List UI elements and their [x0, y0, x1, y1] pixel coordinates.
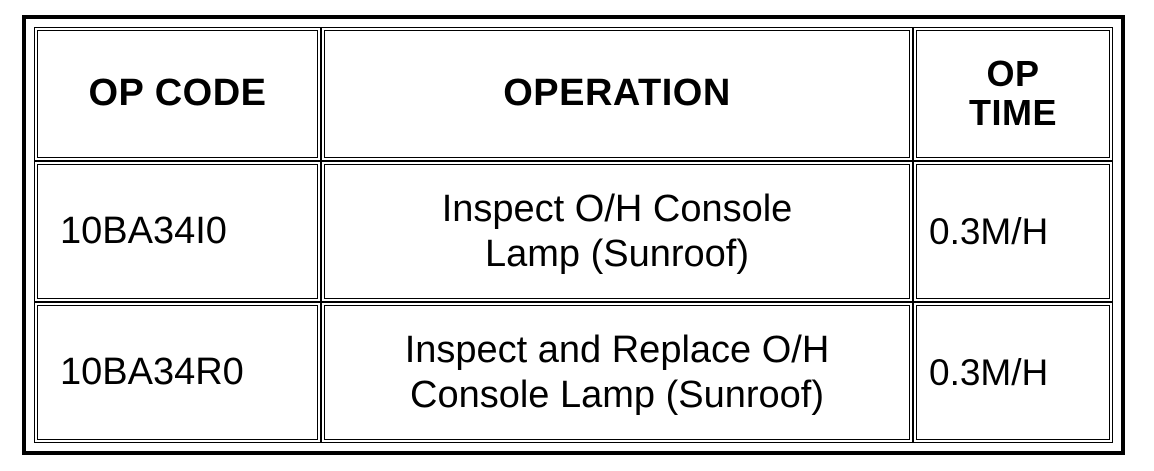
table-outer-frame: OP CODE OPERATION OP TIME 10BA34I0 Inspe… [22, 15, 1125, 455]
column-header-op-code: OP CODE [34, 27, 321, 161]
page-root: OP CODE OPERATION OP TIME 10BA34I0 Inspe… [0, 0, 1154, 471]
table-body: 10BA34I0 Inspect O/H Console Lamp (Sunro… [34, 161, 1113, 443]
table-row: 10BA34R0 Inspect and Replace O/H Console… [34, 302, 1113, 443]
column-header-op-time-line1: OP [927, 55, 1099, 94]
cell-operation-line1: Inspect O/H Console [333, 187, 901, 231]
table-header: OP CODE OPERATION OP TIME [34, 27, 1113, 161]
cell-operation: Inspect and Replace O/H Console Lamp (Su… [321, 302, 913, 443]
column-header-op-time: OP TIME [913, 27, 1113, 161]
cell-op-code: 10BA34R0 [34, 302, 321, 443]
cell-op-time: 0.3M/H [913, 302, 1113, 443]
cell-operation-line1: Inspect and Replace O/H [333, 328, 901, 372]
cell-operation-line2: Lamp (Sunroof) [333, 232, 901, 276]
table-row: 10BA34I0 Inspect O/H Console Lamp (Sunro… [34, 161, 1113, 302]
column-header-operation: OPERATION [321, 27, 913, 161]
column-header-op-time-line2: TIME [927, 94, 1099, 133]
cell-operation: Inspect O/H Console Lamp (Sunroof) [321, 161, 913, 302]
cell-op-time: 0.3M/H [913, 161, 1113, 302]
cell-operation-line2: Console Lamp (Sunroof) [333, 373, 901, 417]
header-row: OP CODE OPERATION OP TIME [34, 27, 1113, 161]
cell-op-code: 10BA34I0 [34, 161, 321, 302]
operations-table: OP CODE OPERATION OP TIME 10BA34I0 Inspe… [34, 27, 1113, 443]
